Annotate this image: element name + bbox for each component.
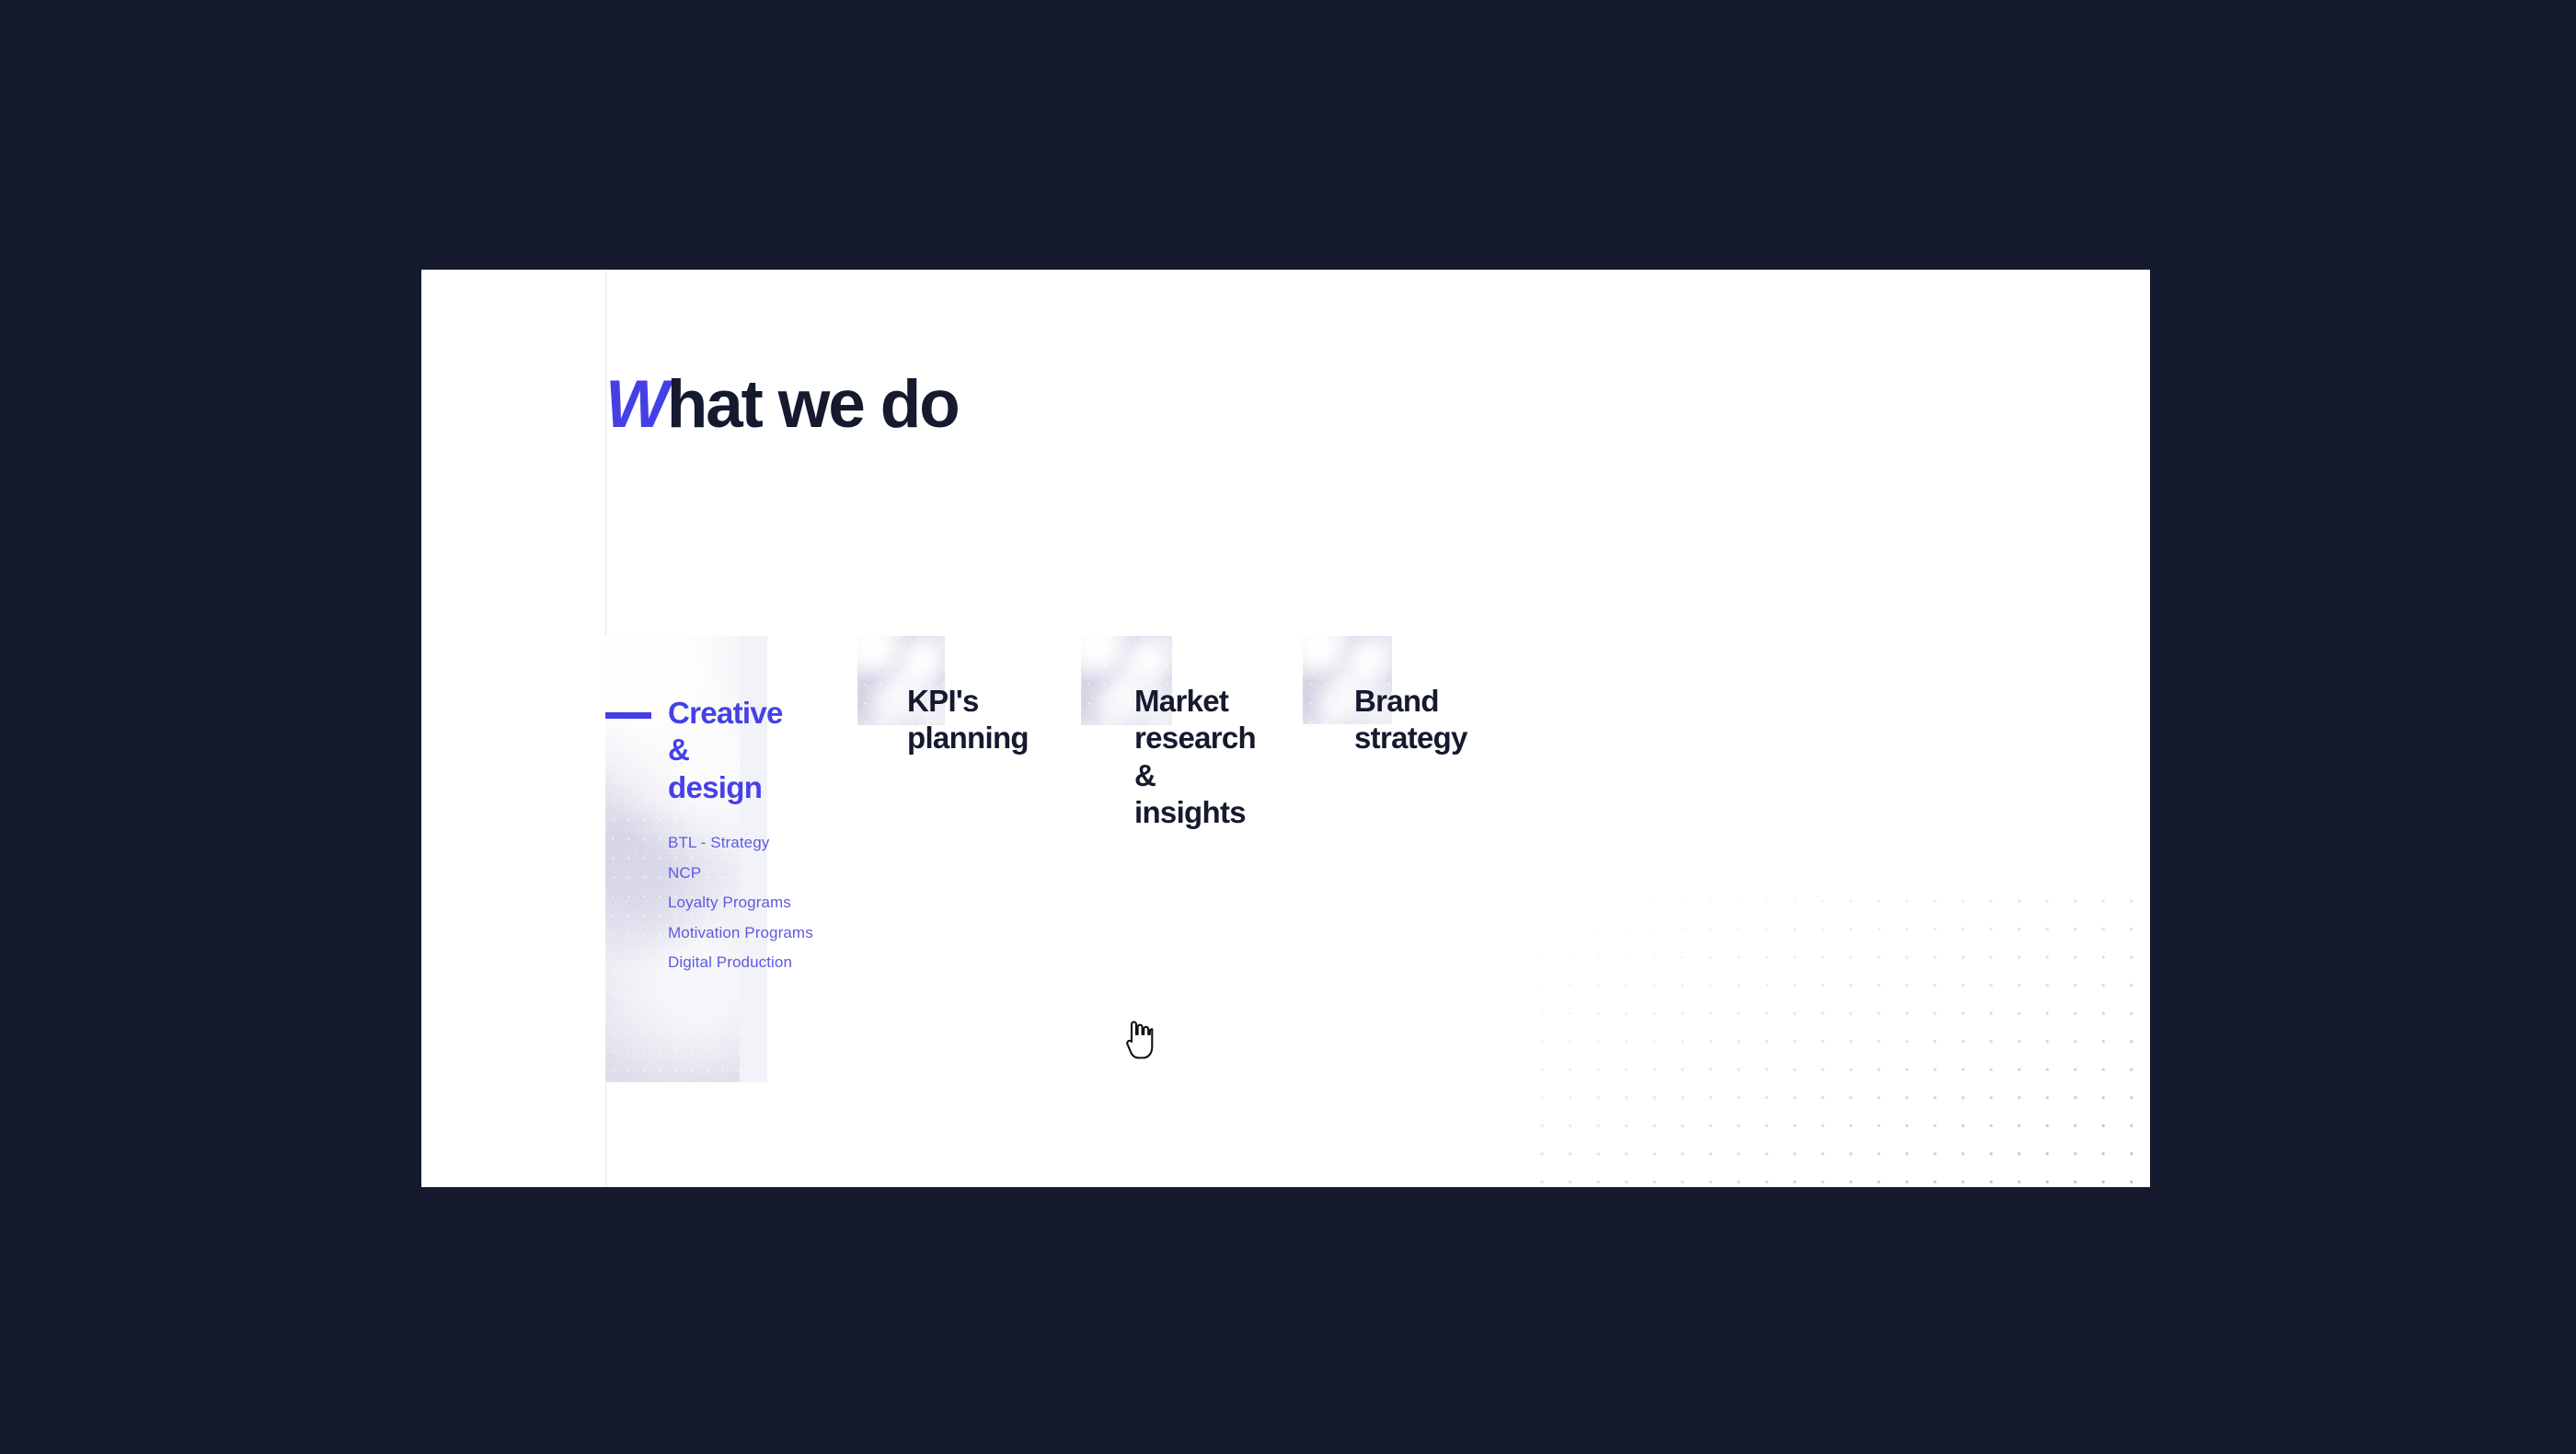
service-sub-item[interactable]: BTL - Strategy [668,834,813,852]
service-sub-item[interactable]: Digital Production [668,953,813,972]
active-card-dash-marker [605,712,651,719]
service-sub-item[interactable]: NCP [668,864,813,883]
service-card-title: Brand strategy [1354,683,1467,757]
service-sub-item-list: BTL - Strategy NCP Loyalty Programs Moti… [668,834,813,984]
service-card-title: KPI's planning [907,683,1029,757]
browser-viewport: What we do Creative & design BTL - Strat… [421,270,2150,1187]
service-card-title: Creative & design [668,695,783,806]
service-sub-item[interactable]: Motivation Programs [668,924,813,942]
service-sub-item[interactable]: Loyalty Programs [668,894,813,912]
service-card-title: Market research & insights [1134,683,1256,831]
services-card-row: Creative & design BTL - Strategy NCP Loy… [421,270,2150,1187]
